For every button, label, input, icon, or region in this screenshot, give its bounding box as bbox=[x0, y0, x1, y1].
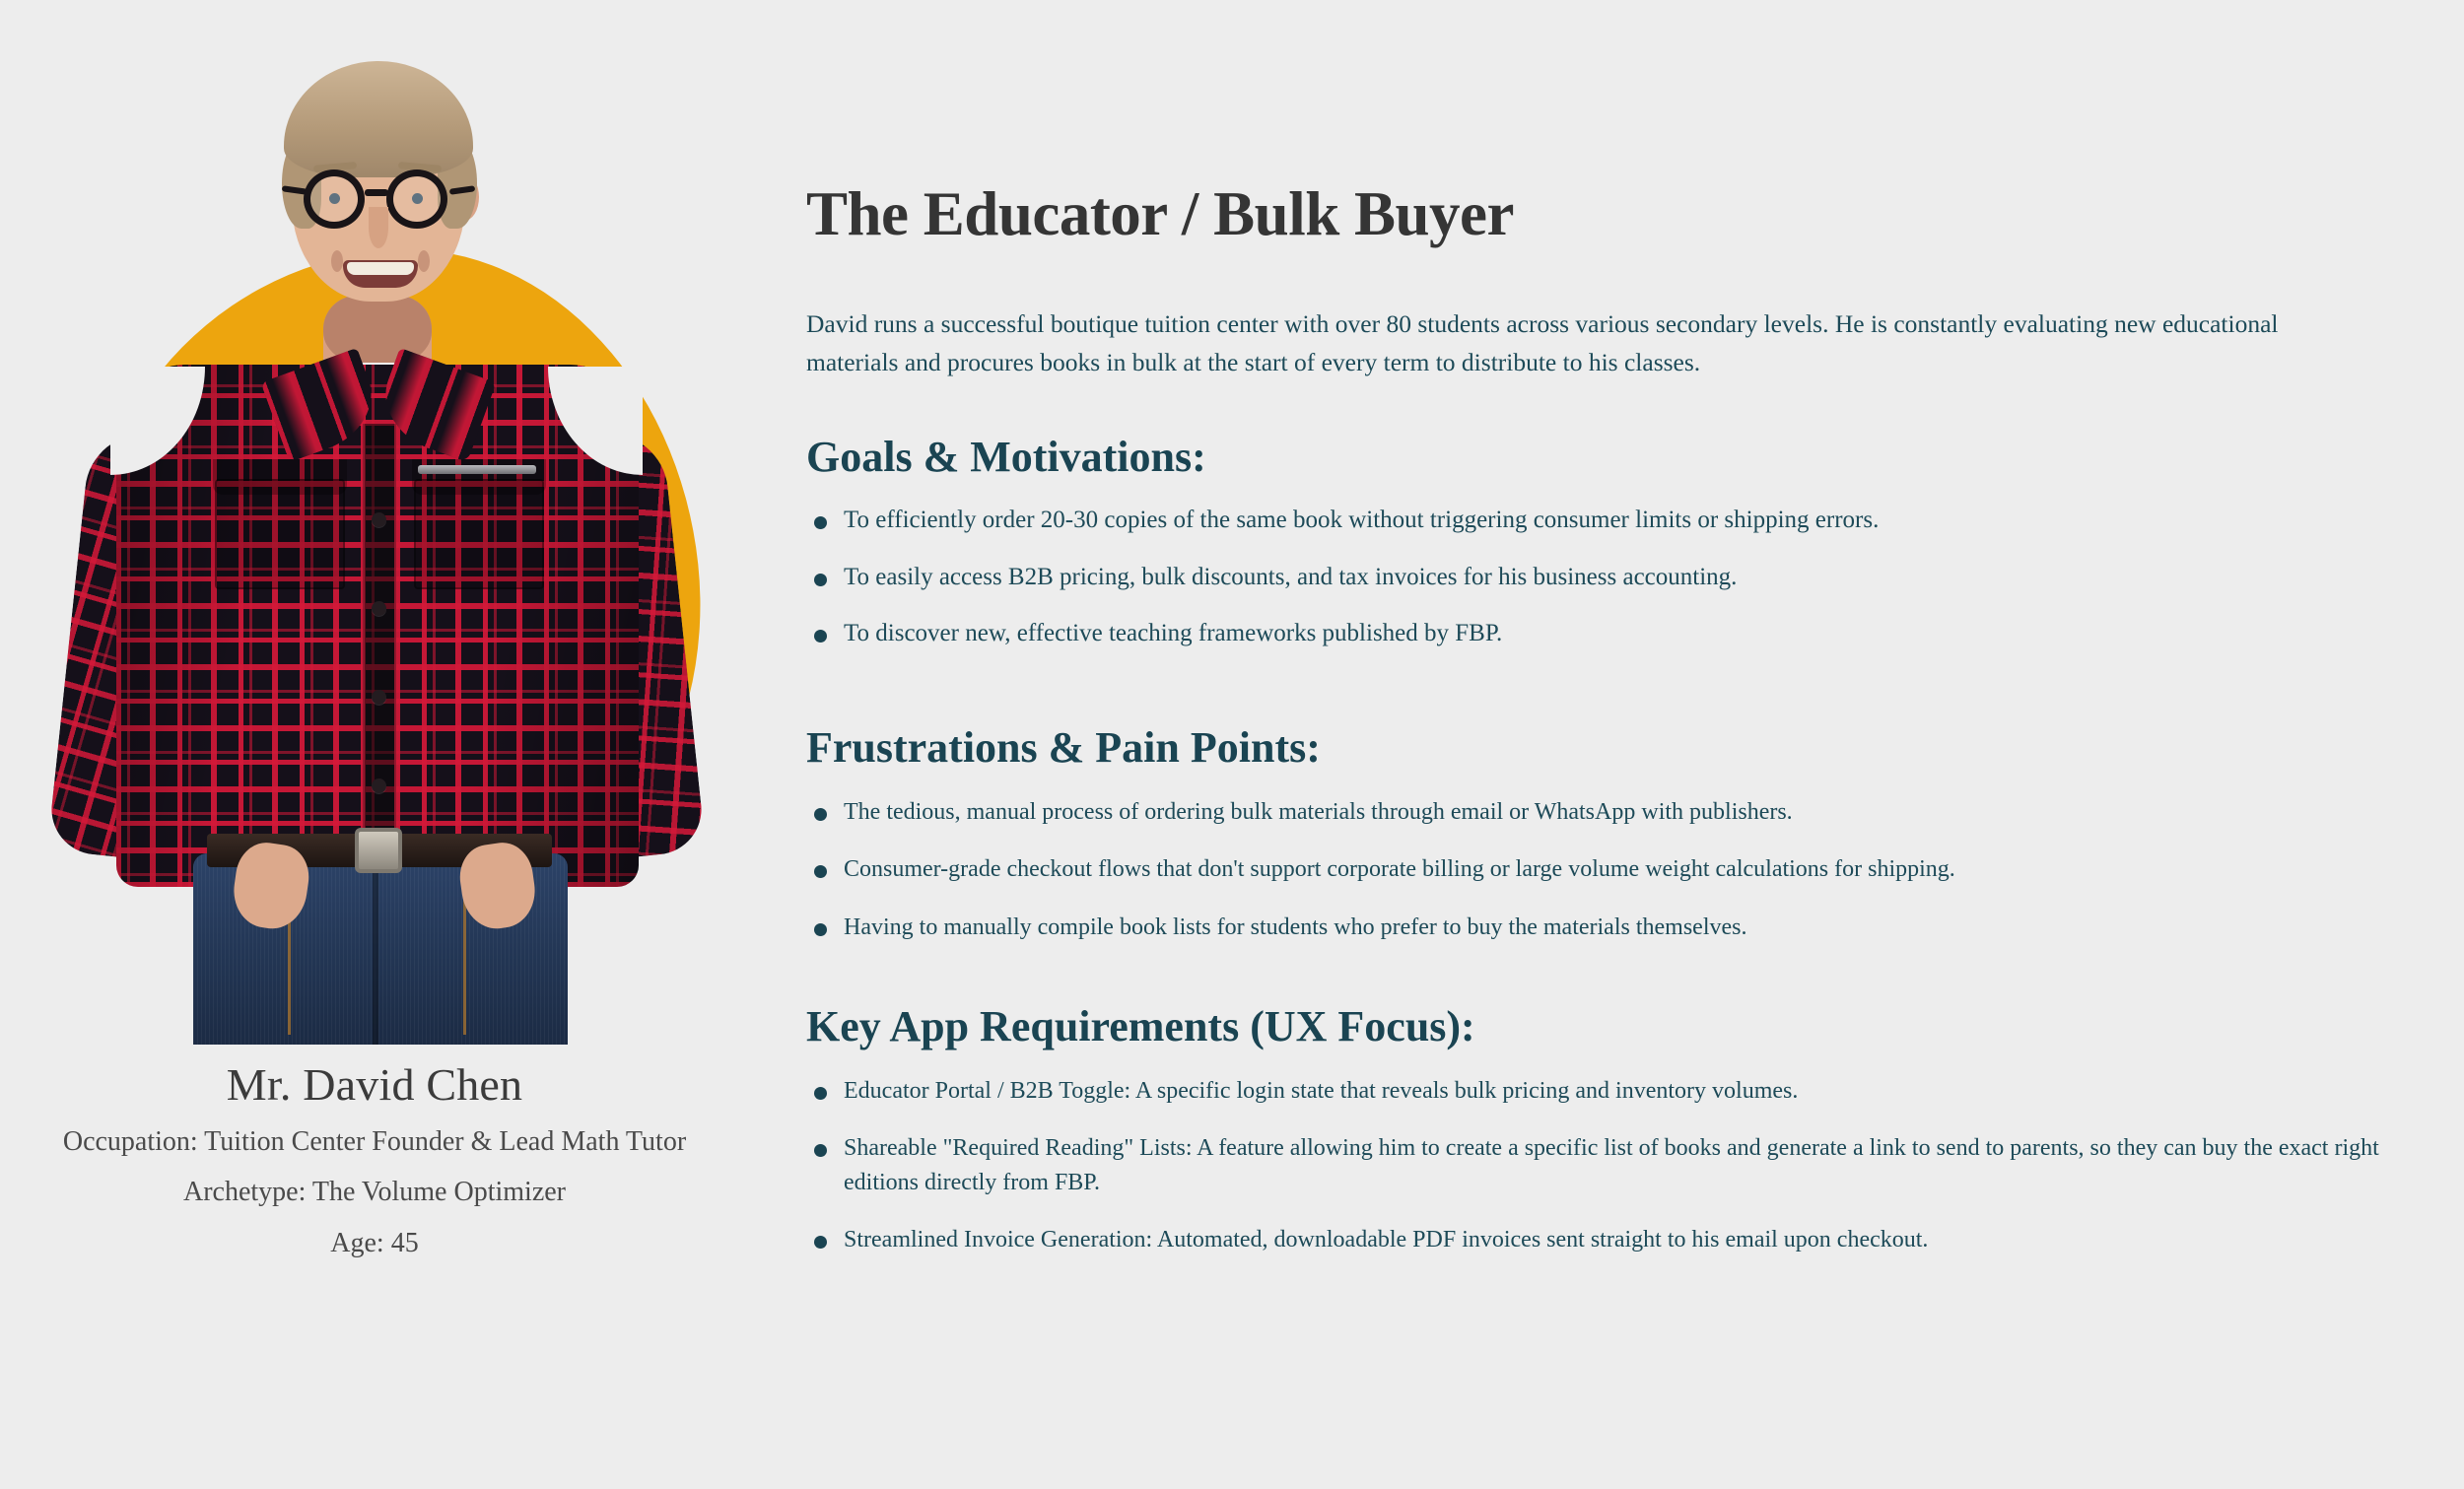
person-age: Age: 45 bbox=[0, 1226, 749, 1261]
list-item: To efficiently order 20-30 copies of the… bbox=[806, 503, 2423, 538]
glasses-left-lens-icon bbox=[304, 169, 365, 229]
list-item: Having to manually compile book lists fo… bbox=[806, 911, 2423, 944]
section-frustrations-title: Frustrations & Pain Points: bbox=[806, 724, 2423, 772]
mouth-shape bbox=[343, 260, 418, 288]
glasses-right-lens-icon bbox=[386, 169, 447, 229]
profile-column: Mr. David Chen Occupation: Tuition Cente… bbox=[0, 0, 749, 1489]
list-item: Consumer-grade checkout flows that don't… bbox=[806, 852, 2423, 886]
list-item: Educator Portal / B2B Toggle: A specific… bbox=[806, 1074, 2423, 1108]
section-requirements-title: Key App Requirements (UX Focus): bbox=[806, 1003, 2423, 1050]
persona-content-column: The Educator / Bulk Buyer David runs a s… bbox=[806, 0, 2423, 1489]
left-smile-line-shape bbox=[331, 250, 343, 272]
shirt-button-icon bbox=[372, 690, 386, 705]
hair-shape bbox=[284, 61, 473, 177]
right-smile-line-shape bbox=[418, 250, 430, 272]
list-item: To discover new, effective teaching fram… bbox=[806, 616, 2423, 651]
glasses-bridge-icon bbox=[365, 189, 388, 196]
shirt-placket-shape bbox=[363, 424, 396, 887]
left-pocket-flap-shape bbox=[213, 459, 347, 495]
shirt-button-icon bbox=[372, 512, 386, 527]
list-item: Streamlined Invoice Generation: Automate… bbox=[806, 1223, 2423, 1256]
portrait-stage bbox=[0, 0, 749, 1045]
teeth-shape bbox=[347, 262, 414, 275]
list-item: The tedious, manual process of ordering … bbox=[806, 795, 2423, 829]
person-name: Mr. David Chen bbox=[0, 1059, 749, 1111]
person-archetype: Archetype: The Volume Optimizer bbox=[0, 1175, 749, 1210]
profile-caption: Mr. David Chen Occupation: Tuition Cente… bbox=[0, 1059, 749, 1261]
shirt-button-icon bbox=[372, 778, 386, 793]
persona-card-page: Mr. David Chen Occupation: Tuition Cente… bbox=[0, 0, 2464, 1489]
section-goals: Goals & Motivations: To efficiently orde… bbox=[806, 434, 2423, 651]
persona-intro-paragraph: David runs a successful boutique tuition… bbox=[806, 305, 2324, 382]
section-requirements-list: Educator Portal / B2B Toggle: A specific… bbox=[806, 1074, 2423, 1255]
list-item: Shareable "Required Reading" Lists: A fe… bbox=[806, 1131, 2423, 1198]
person-occupation: Occupation: Tuition Center Founder & Lea… bbox=[0, 1124, 749, 1160]
belt-buckle-shape bbox=[355, 828, 402, 873]
section-goals-list: To efficiently order 20-30 copies of the… bbox=[806, 503, 2423, 651]
section-goals-title: Goals & Motivations: bbox=[806, 434, 2423, 481]
nose-shape bbox=[369, 207, 388, 248]
section-requirements: Key App Requirements (UX Focus): Educato… bbox=[806, 1003, 2423, 1256]
section-frustrations-list: The tedious, manual process of ordering … bbox=[806, 795, 2423, 943]
pocket-zipper-shape bbox=[418, 465, 536, 474]
page-title: The Educator / Bulk Buyer bbox=[806, 183, 1514, 245]
shirt-button-icon bbox=[372, 601, 386, 616]
persona-photo bbox=[0, 0, 749, 1045]
left-chest-pocket-shape bbox=[215, 479, 345, 589]
section-frustrations: Frustrations & Pain Points: The tedious,… bbox=[806, 724, 2423, 944]
right-chest-pocket-shape bbox=[414, 479, 544, 589]
list-item: To easily access B2B pricing, bulk disco… bbox=[806, 560, 2423, 595]
